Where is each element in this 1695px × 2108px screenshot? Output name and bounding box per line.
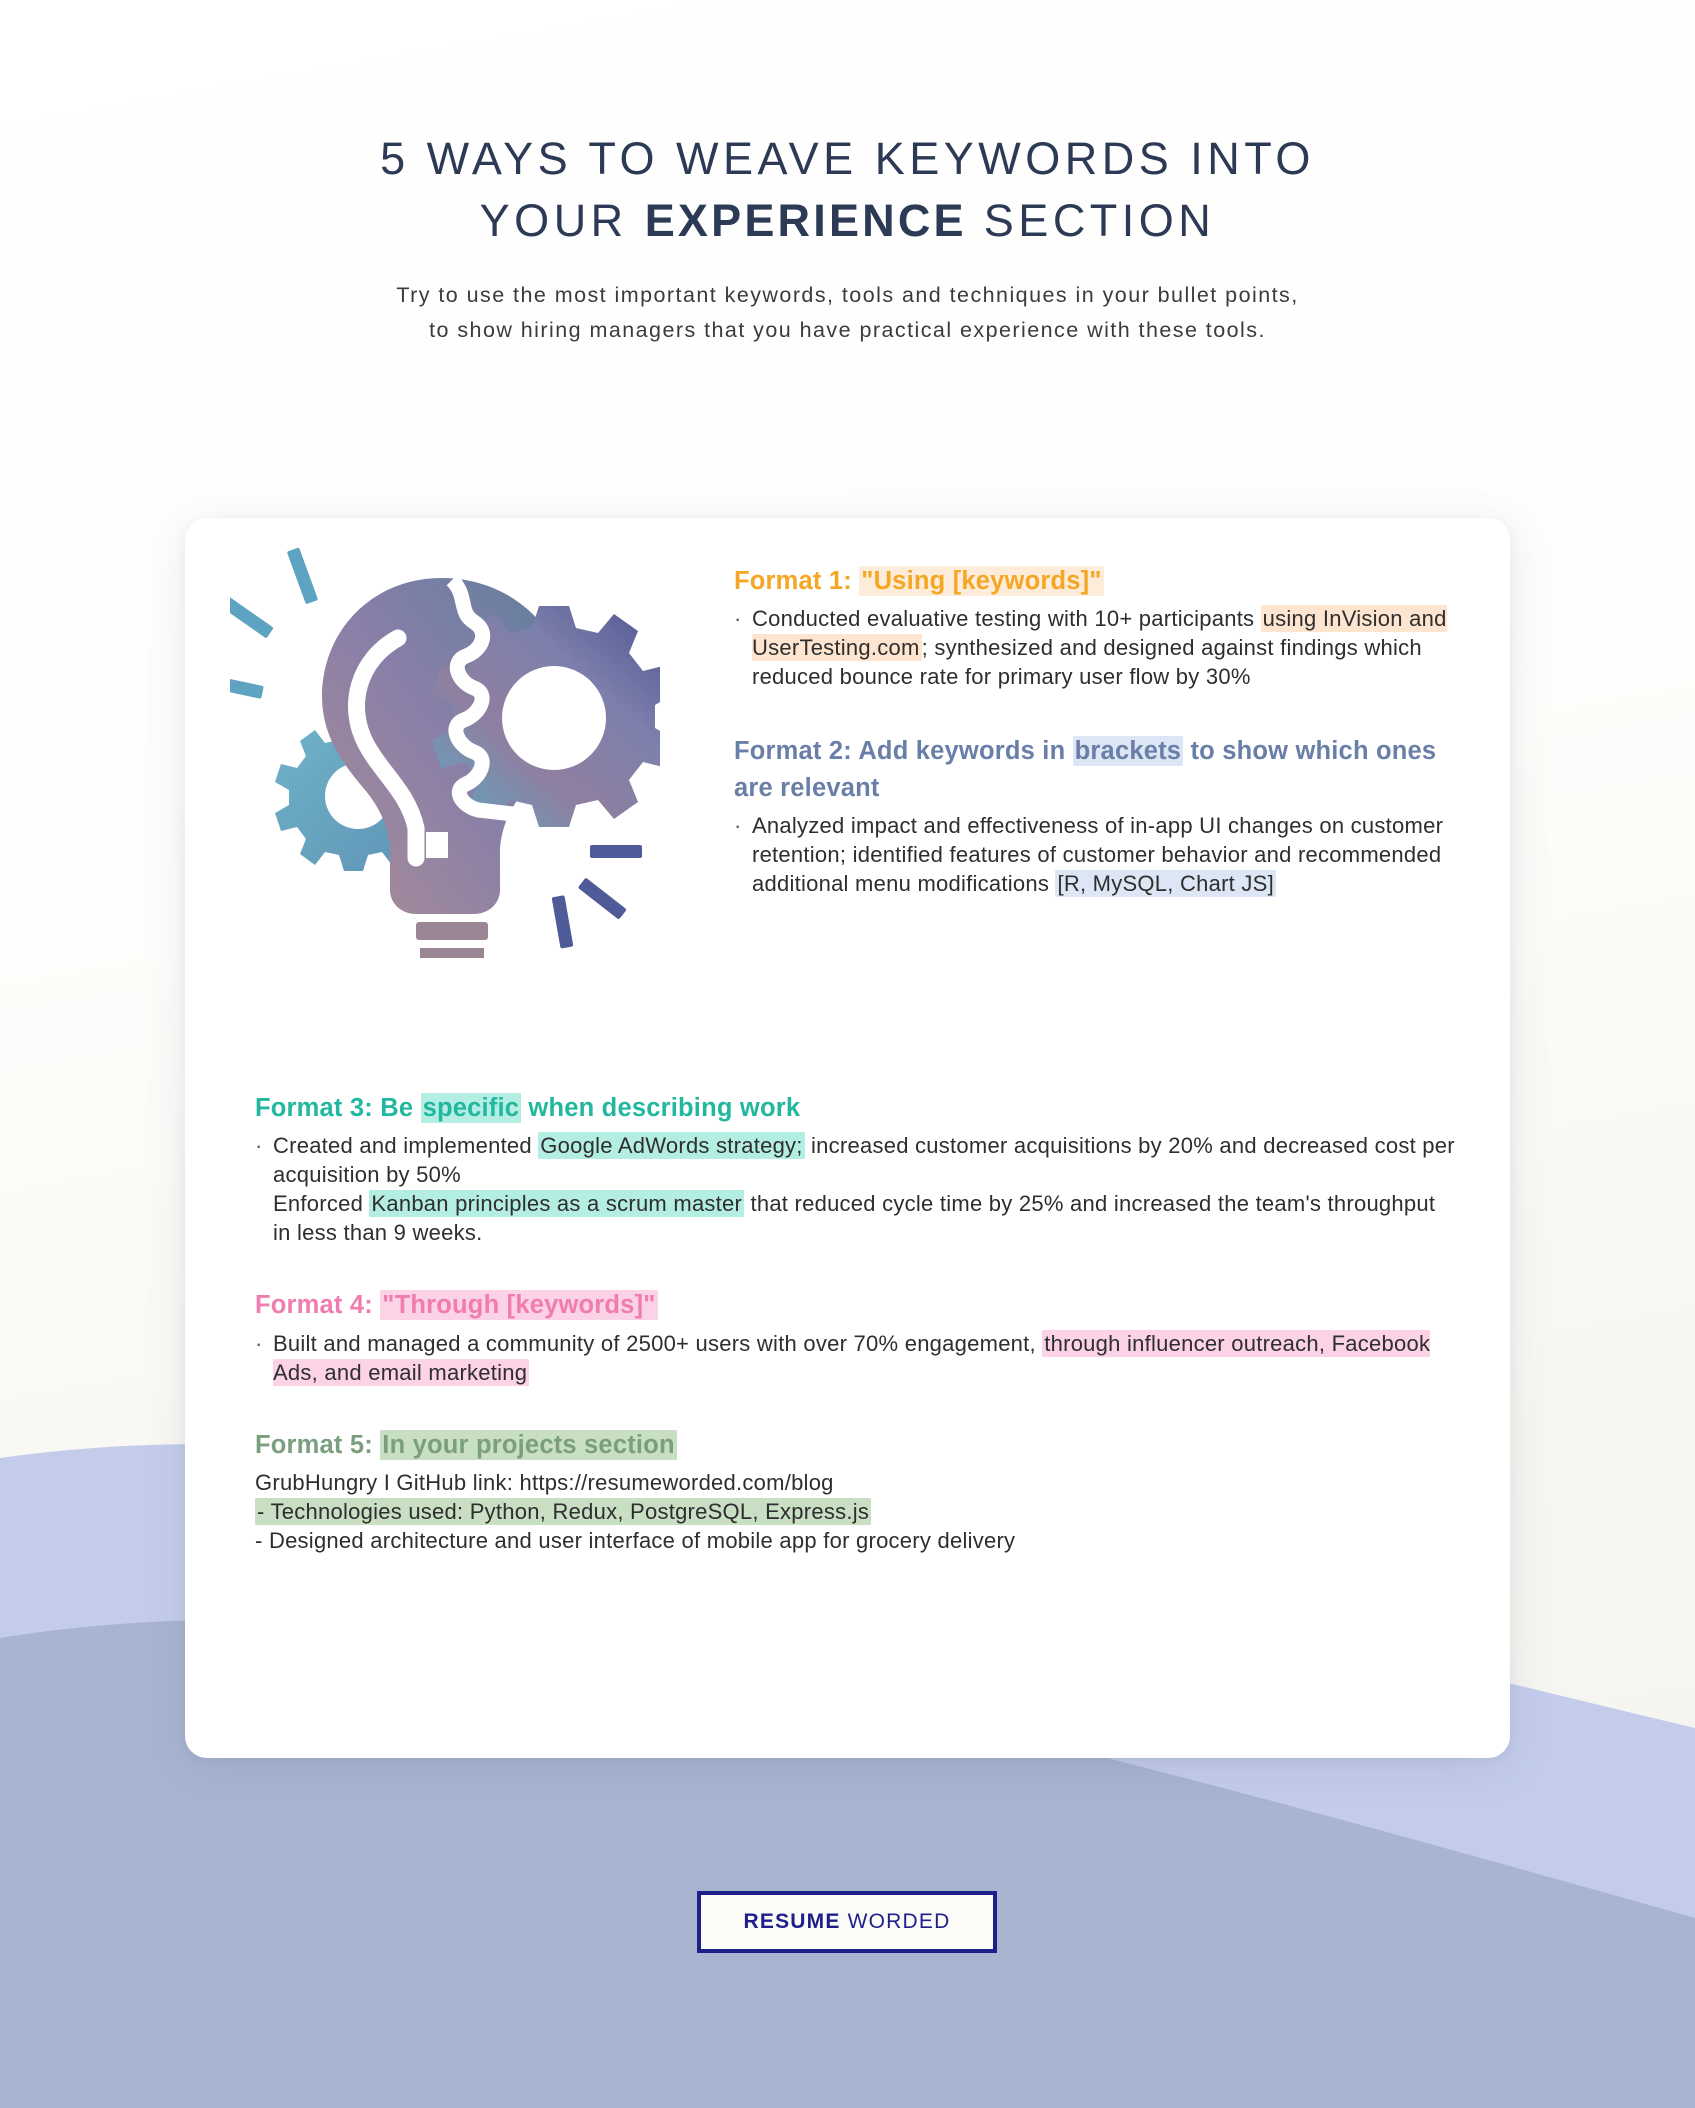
format-2-heading-highlight: brackets bbox=[1073, 736, 1184, 766]
ray bbox=[230, 595, 274, 639]
logo-text: RESUME WORDED bbox=[744, 1910, 951, 1934]
page-title-line1: 5 WAYS TO WEAVE KEYWORDS INTO bbox=[380, 133, 1315, 184]
ray bbox=[552, 895, 574, 948]
ray bbox=[590, 845, 642, 858]
content-card: Format 1: "Using [keywords]" ·Conducted … bbox=[185, 518, 1510, 1758]
format-3-heading-label: Format 3: Be bbox=[255, 1094, 421, 1122]
formats-full-column: Format 3: Be specific when describing wo… bbox=[255, 1090, 1455, 1555]
bullet-icon: · bbox=[255, 1329, 273, 1358]
page-subtitle: Try to use the most important keywords, … bbox=[0, 278, 1695, 348]
page-subtitle-line2: to show hiring managers that you have pr… bbox=[429, 318, 1266, 342]
format-1-heading-label: Format 1: bbox=[734, 567, 859, 595]
formats-right-column: Format 1: "Using [keywords]" ·Conducted … bbox=[734, 563, 1464, 898]
format-3-block: Format 3: Be specific when describing wo… bbox=[255, 1090, 1455, 1247]
page-title-line2-post: SECTION bbox=[967, 195, 1216, 246]
format-5-line3: - Designed architecture and user interfa… bbox=[255, 1526, 1455, 1555]
format-4-body: ·Built and managed a community of 2500+ … bbox=[255, 1329, 1455, 1387]
format-3-heading-post: when describing work bbox=[521, 1094, 800, 1122]
page-title-emphasis: EXPERIENCE bbox=[645, 195, 967, 246]
format-5-line1: GrubHungry I GitHub link: https://resume… bbox=[255, 1468, 1455, 1497]
format-3-body-line1: ·Created and implemented Google AdWords … bbox=[255, 1131, 1455, 1189]
page-subtitle-line1: Try to use the most important keywords, … bbox=[396, 283, 1298, 307]
format-1-block: Format 1: "Using [keywords]" ·Conducted … bbox=[734, 563, 1464, 691]
page-title: 5 WAYS TO WEAVE KEYWORDS INTO YOUR EXPER… bbox=[0, 128, 1695, 252]
format-2-body: ·Analyzed impact and effectiveness of in… bbox=[734, 811, 1464, 898]
format-3-heading: Format 3: Be specific when describing wo… bbox=[255, 1090, 1455, 1126]
logo-regular: WORDED bbox=[841, 1910, 951, 1933]
format-1-body-pre: Conducted evaluative testing with 10+ pa… bbox=[752, 606, 1261, 631]
format-2-heading-label: Format 2: Add keywords in bbox=[734, 737, 1073, 765]
format-5-line2-highlight: - Technologies used: Python, Redux, Post… bbox=[255, 1498, 871, 1525]
bullet-icon: · bbox=[734, 604, 752, 633]
bullet-icon: · bbox=[255, 1131, 273, 1160]
format-5-heading-label: Format 5: bbox=[255, 1431, 380, 1459]
format-3-line1-highlight: Google AdWords strategy; bbox=[538, 1132, 804, 1159]
ray bbox=[578, 877, 627, 919]
format-4-heading-label: Format 4: bbox=[255, 1291, 380, 1319]
resume-worded-logo[interactable]: RESUME WORDED bbox=[697, 1891, 997, 1953]
page-title-line2-pre: YOUR bbox=[480, 195, 645, 246]
page-header: 5 WAYS TO WEAVE KEYWORDS INTO YOUR EXPER… bbox=[0, 0, 1695, 348]
format-5-block: Format 5: In your projects section GrubH… bbox=[255, 1427, 1455, 1555]
lightbulb-gears-icon bbox=[230, 538, 660, 958]
ray bbox=[287, 547, 318, 604]
format-5-line2: - Technologies used: Python, Redux, Post… bbox=[255, 1497, 1455, 1526]
format-2-block: Format 2: Add keywords in brackets to sh… bbox=[734, 733, 1464, 898]
format-3-body-line2: Enforced Kanban principles as a scrum ma… bbox=[255, 1189, 1455, 1247]
format-1-body: ·Conducted evaluative testing with 10+ p… bbox=[734, 604, 1464, 691]
format-3-line1-pre: Created and implemented bbox=[273, 1133, 538, 1158]
format-4-heading: Format 4: "Through [keywords]" bbox=[255, 1287, 1455, 1323]
format-3-line2-highlight: Kanban principles as a scrum master bbox=[369, 1190, 744, 1217]
bulb-base bbox=[416, 922, 488, 958]
format-4-body-pre: Built and managed a community of 2500+ u… bbox=[273, 1331, 1042, 1356]
format-3-heading-highlight: specific bbox=[421, 1093, 522, 1123]
bullet-icon: · bbox=[734, 811, 752, 840]
logo-bold: RESUME bbox=[744, 1910, 841, 1933]
format-1-heading-highlight: "Using [keywords]" bbox=[859, 566, 1103, 596]
format-4-block: Format 4: "Through [keywords]" ·Built an… bbox=[255, 1287, 1455, 1386]
format-5-heading: Format 5: In your projects section bbox=[255, 1427, 1455, 1463]
format-4-heading-highlight: "Through [keywords]" bbox=[380, 1290, 657, 1320]
ray bbox=[230, 674, 264, 699]
format-2-body-highlight: [R, MySQL, Chart JS] bbox=[1055, 870, 1276, 897]
format-5-heading-highlight: In your projects section bbox=[380, 1430, 676, 1460]
format-2-heading: Format 2: Add keywords in brackets to sh… bbox=[734, 733, 1464, 805]
format-1-heading: Format 1: "Using [keywords]" bbox=[734, 563, 1464, 599]
format-3-line2-pre: Enforced bbox=[273, 1191, 369, 1216]
